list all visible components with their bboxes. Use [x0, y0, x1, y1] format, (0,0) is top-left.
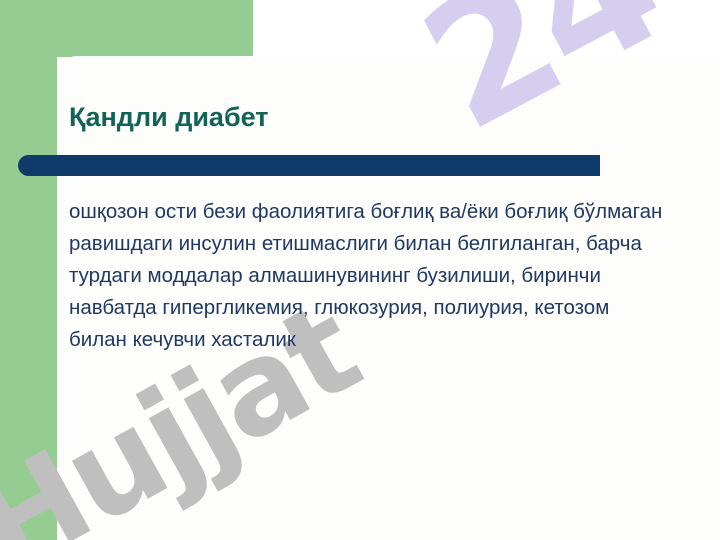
page-title: Қандли диабет	[69, 100, 629, 134]
slide-canvas: 24 Hujjat Қандли диабет ошқозон ости без…	[0, 0, 720, 540]
green-notch-block	[57, 0, 253, 57]
title-accent-bar	[18, 155, 600, 176]
body-paragraph: ошқозон ости бези фаолиятига боғлиқ ва/ё…	[69, 196, 669, 356]
